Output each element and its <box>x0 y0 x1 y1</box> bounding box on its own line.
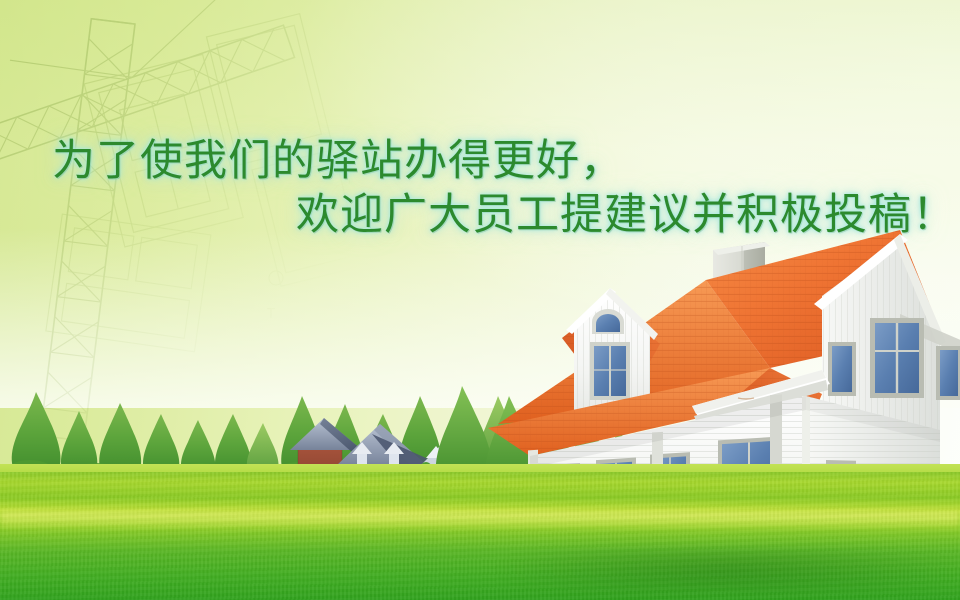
svg-text:T: T <box>266 307 275 322</box>
gable-window <box>590 342 630 400</box>
headline-line-1: 为了使我们的驿站办得更好， <box>52 126 624 188</box>
house-ground-shadow <box>430 548 960 592</box>
arched-window <box>592 309 624 334</box>
banner-image: T <box>0 0 960 600</box>
